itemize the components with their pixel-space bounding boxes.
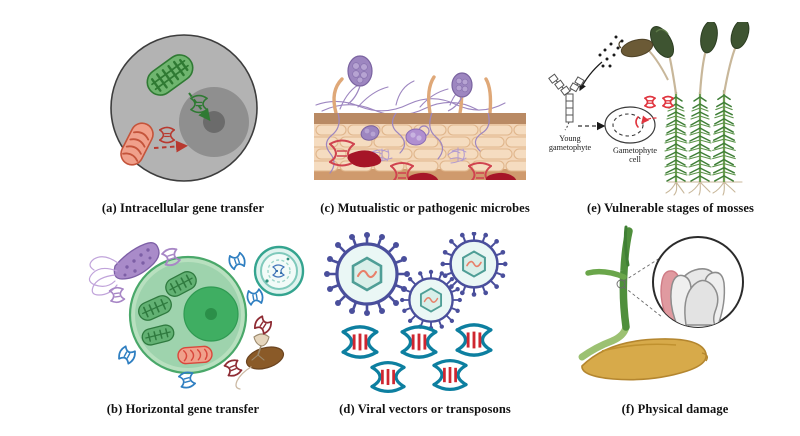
panel-d-caption: (d) Viral vectors or transposons [305,402,545,417]
panel-e-vulnerable-stages-of-mosses: Young gametophyte Gametophyte cell [510,22,800,197]
sporophyte-1 [646,23,679,94]
dna-helix-5 [434,361,466,390]
moss-plant-2 [689,92,711,182]
sporophyte-2 [698,22,719,94]
panel-f-physical-damage [550,225,800,397]
panel-f-artwork [550,225,800,397]
mitochondrion [177,346,212,364]
magnified-inset [653,237,743,329]
surface-hyphae [316,81,505,115]
panel-f-caption: (f) Physical damage [555,402,795,417]
upper-epidermis-band [314,113,526,124]
panel-b-artwork [55,225,317,397]
panel-b-caption: (b) Horizontal gene transfer [63,402,303,417]
dna-helix-2 [402,327,436,357]
dna-helix-3 [457,325,491,355]
label-gametophyte-cell: Gametophyte cell [592,146,678,164]
moss-plant-3 [713,90,735,182]
virus-particle-2 [400,270,462,330]
rhizoids [666,182,742,195]
panel-d-viral-vectors-or-transposons [322,232,537,397]
moss-plant-1 [665,92,687,182]
teal-virus-particle [255,247,303,295]
germination-arrow [580,62,602,90]
sporophyte-3 [724,22,752,94]
panel-a-artwork [62,22,302,197]
figure-canvas: (a) Intracellular gene transfer [0,0,800,436]
dna-helix-1 [343,327,377,357]
panel-b-horizontal-gene-transfer [55,225,317,397]
plant-cell-nucleolus [205,308,217,320]
dna-helix-4 [372,363,404,392]
panel-e-caption: (e) Vulnerable stages of mosses [548,201,793,216]
panel-a-caption: (a) Intracellular gene transfer [63,201,303,216]
panel-e-artwork [510,22,800,197]
young-gametophyte [549,74,584,130]
virus-particle-3 [440,232,507,297]
panel-c-caption: (c) Mutualistic or pathogenic microbes [300,201,550,216]
panel-d-artwork [322,232,537,397]
virus-particle-1 [324,232,410,316]
panel-a-intracellular-gene-transfer [62,22,302,197]
brown-bacterium-with-phage [236,334,286,389]
seedling-shoot [582,227,629,357]
released-spores [599,36,624,68]
leaf-tissue-block [308,113,536,188]
